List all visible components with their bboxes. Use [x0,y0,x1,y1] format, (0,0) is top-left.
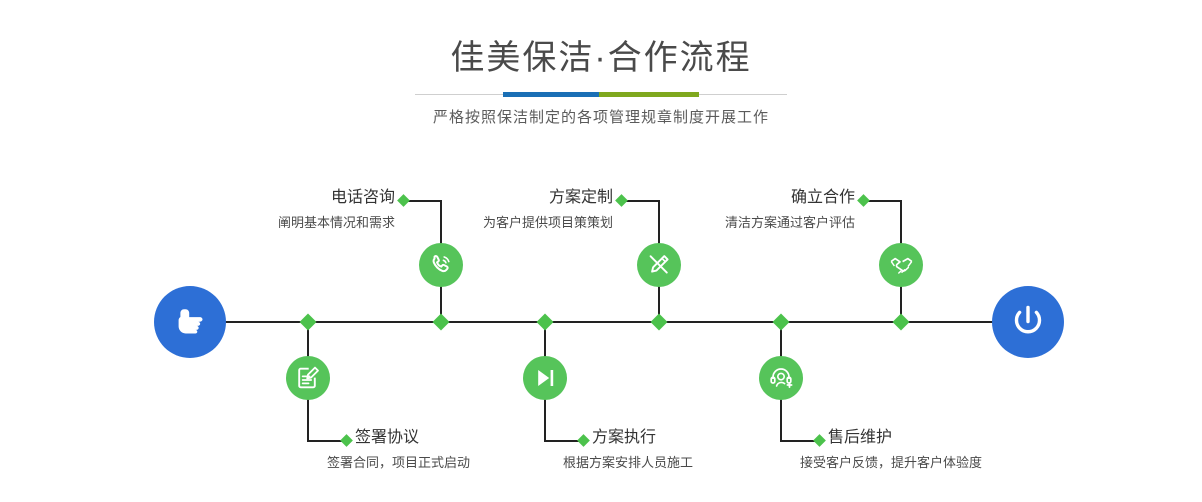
flow-diagram-canvas: 佳美保洁·合作流程 严格按照保洁制定的各项管理规章制度开展工作 [0,0,1202,502]
step-subtitle: 接受客户反馈，提升客户体验度 [800,454,982,472]
step-subtitle: 阐明基本情况和需求 [160,214,395,232]
step-subtitle: 清洁方案通过客户评估 [620,214,855,232]
step-icon-document-edit[interactable] [286,356,330,400]
page-title: 佳美保洁·合作流程 [0,0,1202,80]
axis-marker-diamond [300,314,317,331]
branch-marker-diamond [577,434,590,447]
axis-marker-diamond [773,314,790,331]
timeline-end-node[interactable] [992,286,1064,358]
document-edit-icon [295,365,321,391]
branch-hline [865,200,902,202]
step-subtitle: 根据方案安排人员施工 [563,454,693,472]
divider-segment-green [599,92,699,97]
pen-edit-icon [646,252,672,278]
axis-marker-diamond [651,314,668,331]
step-title: 确立合作 [645,188,855,208]
step-title: 方案定制 [400,188,613,208]
branch-marker-diamond [615,194,628,207]
page-header: 佳美保洁·合作流程 严格按照保洁制定的各项管理规章制度开展工作 [0,0,1202,127]
timeline-axis [158,321,1044,323]
step-icon-pen-edit[interactable] [637,243,681,287]
step-title: 方案执行 [592,428,656,448]
customer-service-icon [768,365,794,391]
branch-marker-diamond [340,434,353,447]
power-icon [1007,301,1049,343]
branch-marker-diamond [813,434,826,447]
axis-marker-diamond [433,314,450,331]
step-icon-handshake[interactable] [879,243,923,287]
phone-ringing-icon [428,252,454,278]
step-title: 签署协议 [355,428,419,448]
title-divider [415,94,787,95]
divider-segment-blue [503,92,599,97]
step-icon-customer-service[interactable] [759,356,803,400]
step-title: 电话咨询 [180,188,395,208]
axis-marker-diamond [537,314,554,331]
play-skip-icon [532,365,558,391]
step-subtitle: 签署合同，项目正式启动 [327,454,470,472]
axis-marker-diamond [893,314,910,331]
page-subtitle: 严格按照保洁制定的各项管理规章制度开展工作 [0,95,1202,127]
pointing-hand-icon [170,302,210,342]
handshake-icon [888,252,915,279]
step-subtitle: 为客户提供项目策策划 [380,214,613,232]
step-title: 售后维护 [828,428,892,448]
step-icon-phone-ringing[interactable] [419,243,463,287]
step-icon-play-skip[interactable] [523,356,567,400]
timeline-start-node[interactable] [154,286,226,358]
branch-marker-diamond [857,194,870,207]
